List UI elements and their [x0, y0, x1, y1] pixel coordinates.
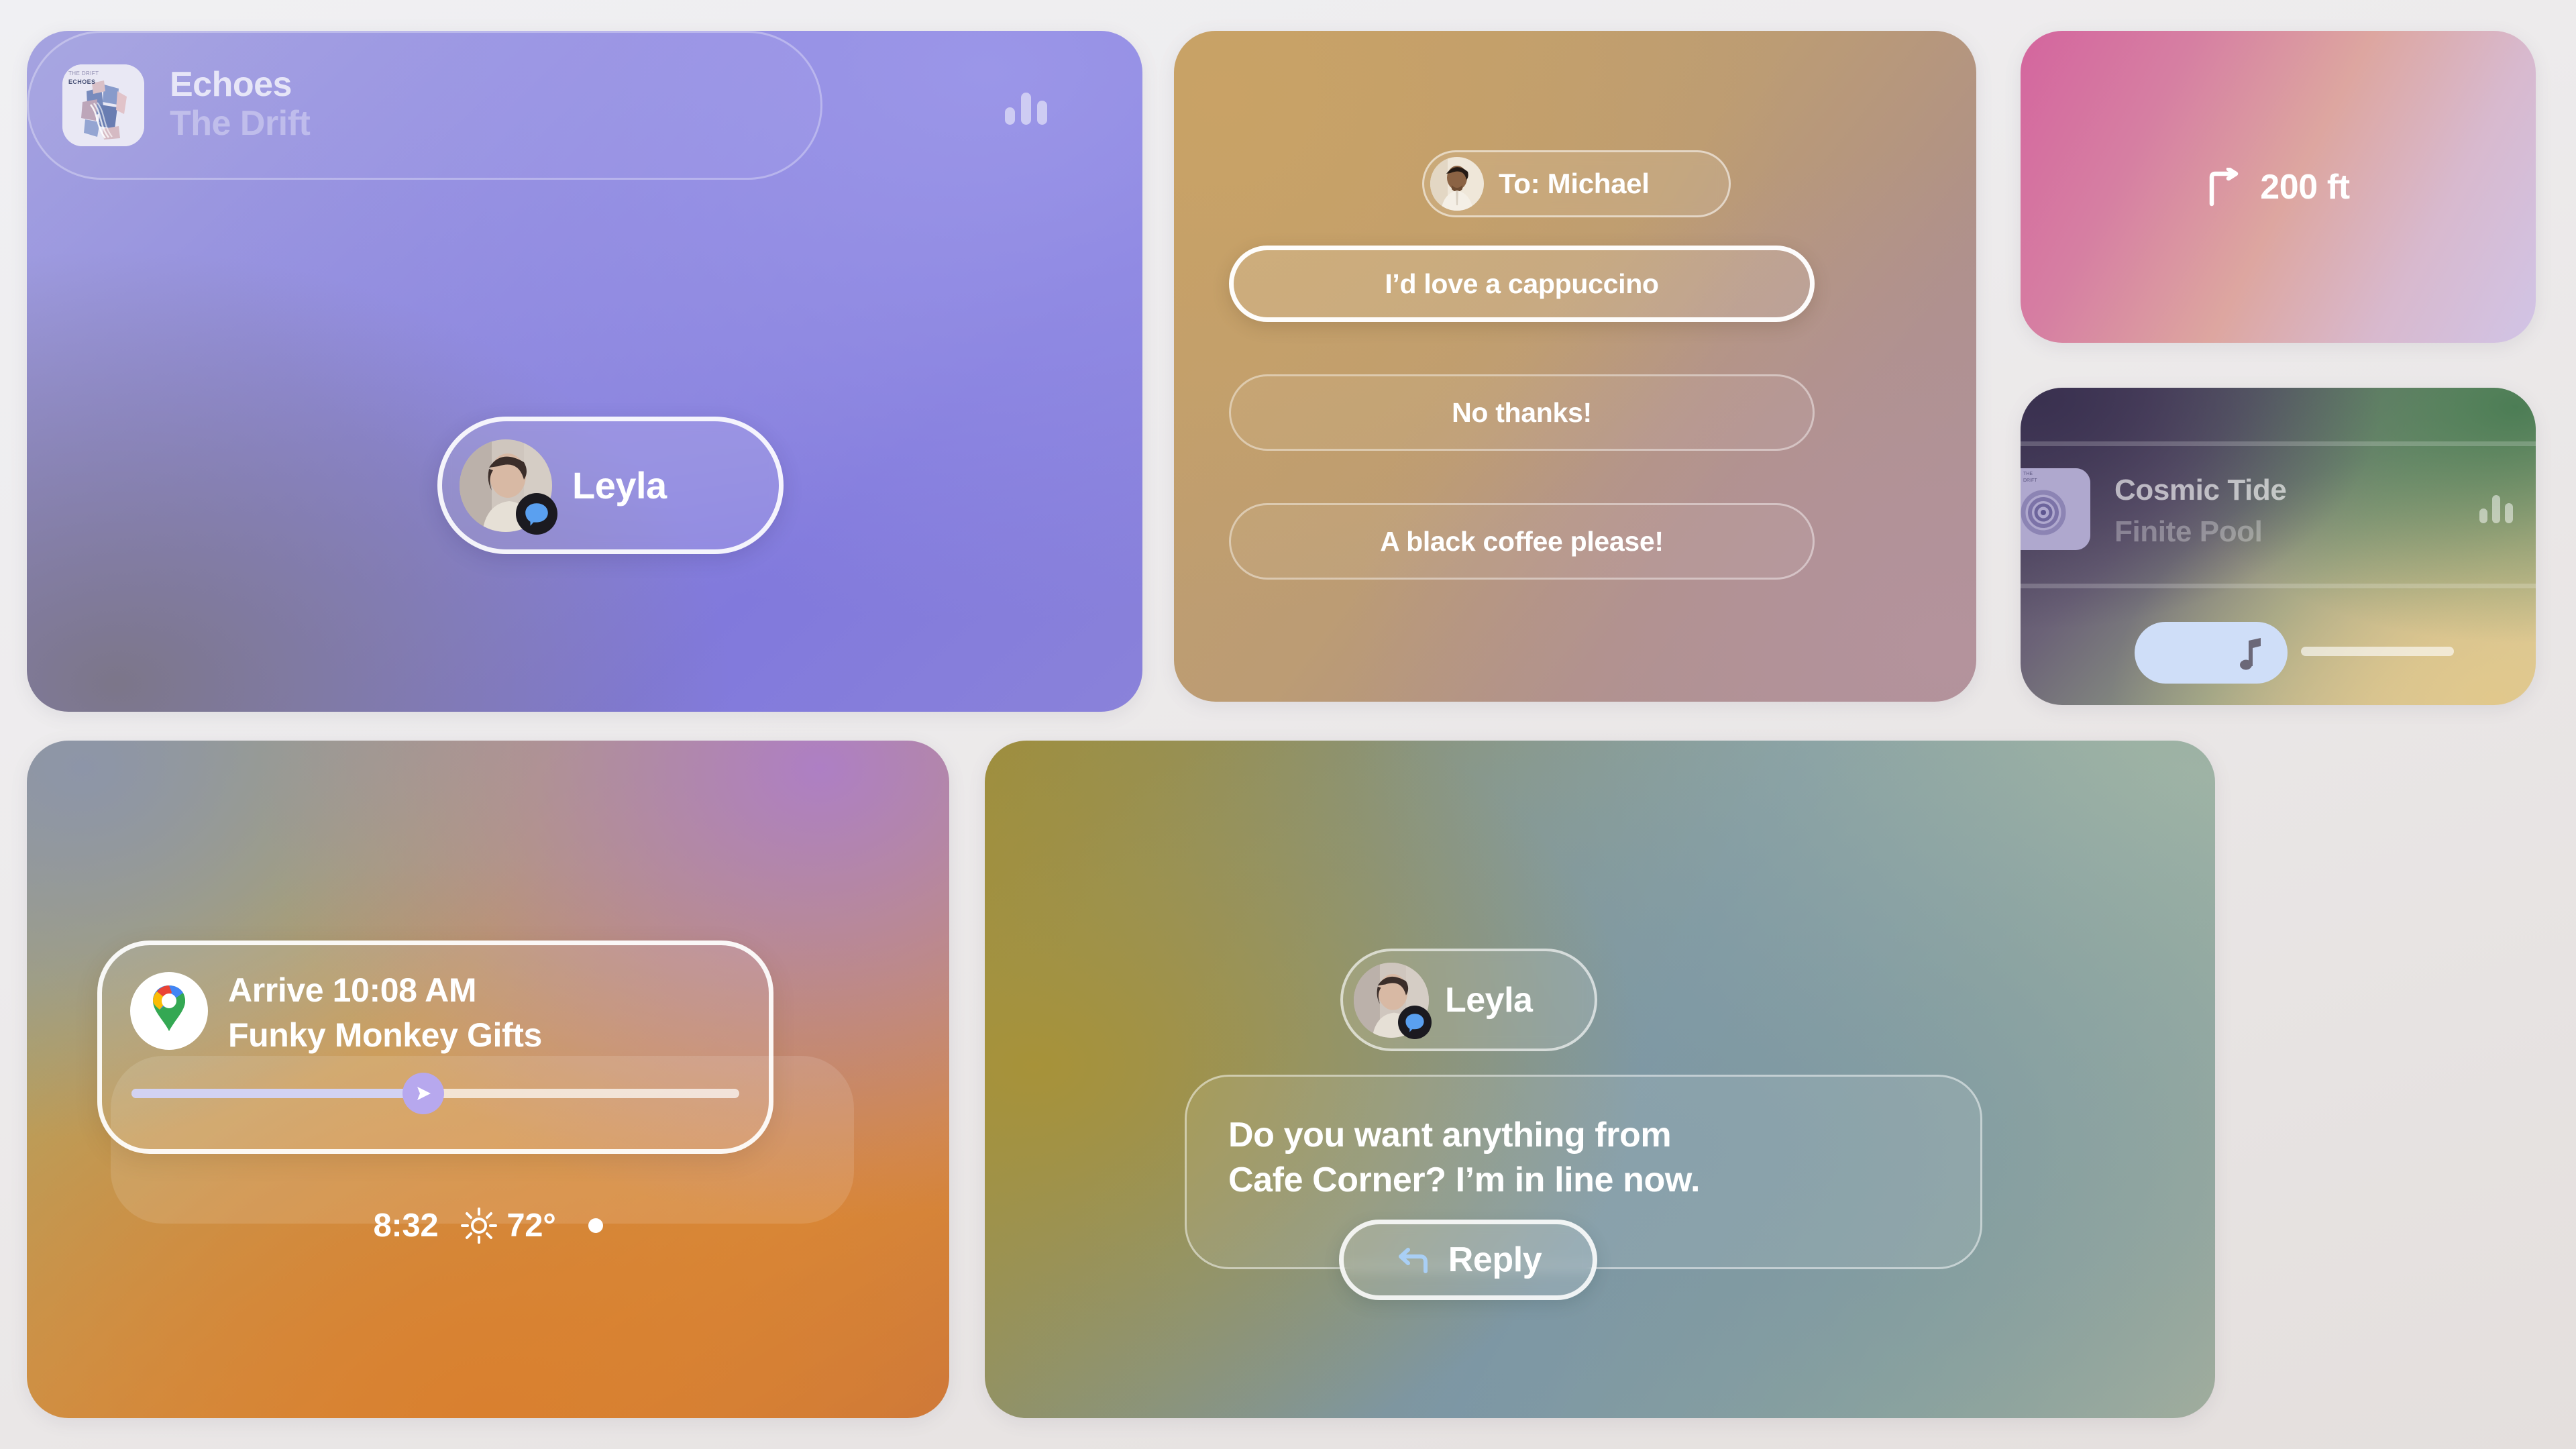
avatar: [1354, 963, 1429, 1038]
now-playing-pill[interactable]: THE DRIFT ECHOES Echoes The Drift: [27, 31, 822, 180]
sender-pill[interactable]: Leyla: [1340, 949, 1597, 1051]
track-artist: Finite Pool: [2114, 515, 2262, 549]
reply-button[interactable]: Reply: [1339, 1220, 1597, 1300]
route-progress-fill: [131, 1089, 423, 1098]
clock-time: 8:32: [373, 1207, 438, 1244]
track-title: Cosmic Tide: [2114, 474, 2286, 507]
reply-option-1[interactable]: No thanks!: [1229, 374, 1815, 451]
turn-right-arrow-icon: [2206, 168, 2243, 207]
avatar: [460, 439, 552, 532]
distance-label: 200 ft: [2260, 167, 2349, 207]
divider-top: [2021, 441, 2536, 446]
maps-arrival-card[interactable]: Arrive 10:08 AM Funky Monkey Gifts 8:32: [27, 741, 949, 1418]
track-meta: Echoes The Drift: [170, 66, 310, 145]
navigation-distance-content: 200 ft: [2021, 167, 2536, 207]
album-art-text: THE DRIFT: [2023, 471, 2037, 484]
weather-group: 72°: [461, 1207, 555, 1244]
navigation-distance-card[interactable]: 200 ft: [2021, 31, 2536, 343]
recipient-pill[interactable]: To: Michael: [1422, 150, 1731, 217]
suggested-replies-card[interactable]: To: Michael I’d love a cappuccino No tha…: [1174, 31, 1976, 702]
equalizer-bars-icon: [2479, 495, 2513, 523]
playback-progress-bar[interactable]: [2301, 647, 2454, 656]
message-line-2: Cafe Corner? I’m in line now.: [1228, 1158, 1944, 1203]
divider-mid: [2021, 584, 2536, 588]
widget-board: THE DRIFT ECHOES Echoes The Drift: [0, 0, 2576, 1449]
music-note-pill[interactable]: [2135, 622, 2288, 684]
recipient-label: To: Michael: [1499, 168, 1650, 200]
arrival-time: Arrive 10:08 AM: [228, 971, 476, 1010]
recipient-avatar: [1430, 157, 1484, 211]
music-note-icon: [2235, 635, 2265, 670]
maps-arrival-panel[interactable]: Arrive 10:08 AM Funky Monkey Gifts: [97, 941, 773, 1154]
reply-option-2[interactable]: A black coffee please!: [1229, 503, 1815, 580]
messages-app-badge-icon: [516, 493, 557, 535]
incoming-message-card[interactable]: Leyla Do you want anything from Cafe Cor…: [985, 741, 2215, 1418]
status-line: 8:32 72°: [27, 1207, 949, 1244]
temperature: 72°: [506, 1207, 555, 1244]
track-artist: The Drift: [170, 103, 310, 144]
route-progress-thumb[interactable]: [402, 1073, 444, 1114]
google-maps-pin-icon: [130, 972, 208, 1050]
destination-name: Funky Monkey Gifts: [228, 1016, 542, 1055]
reply-arrow-icon: [1395, 1242, 1431, 1278]
message-line-1: Do you want anything from: [1228, 1113, 1944, 1158]
contact-name: Leyla: [572, 464, 667, 507]
album-art-echoes: THE DRIFT ECHOES: [62, 64, 144, 146]
now-playing-card[interactable]: THE DRIFT ECHOES Echoes The Drift: [27, 31, 1142, 712]
equalizer-bars-icon: [1005, 93, 1047, 125]
cosmic-tide-player-card[interactable]: THE DRIFT Cosmic Tide Finite Pool: [2021, 388, 2536, 705]
reply-option-label: I’d love a cappuccino: [1385, 268, 1658, 300]
route-progress-bar[interactable]: [131, 1089, 739, 1098]
reply-option-0[interactable]: I’d love a cappuccino: [1229, 246, 1815, 322]
reply-option-label: A black coffee please!: [1380, 526, 1664, 557]
track-title: Echoes: [170, 66, 310, 103]
messages-app-badge-icon: [1398, 1006, 1432, 1039]
sun-icon: [461, 1207, 497, 1244]
reply-option-label: No thanks!: [1452, 397, 1592, 429]
album-art-text: THE DRIFT ECHOES: [68, 70, 99, 87]
reply-button-label: Reply: [1448, 1240, 1542, 1280]
sender-name: Leyla: [1445, 980, 1532, 1020]
contact-pill-leyla[interactable]: Leyla: [437, 417, 784, 554]
album-art-cosmic-tide: THE DRIFT: [2021, 468, 2090, 550]
navigation-arrow-icon: [413, 1083, 434, 1104]
status-dot-icon: [588, 1218, 603, 1233]
